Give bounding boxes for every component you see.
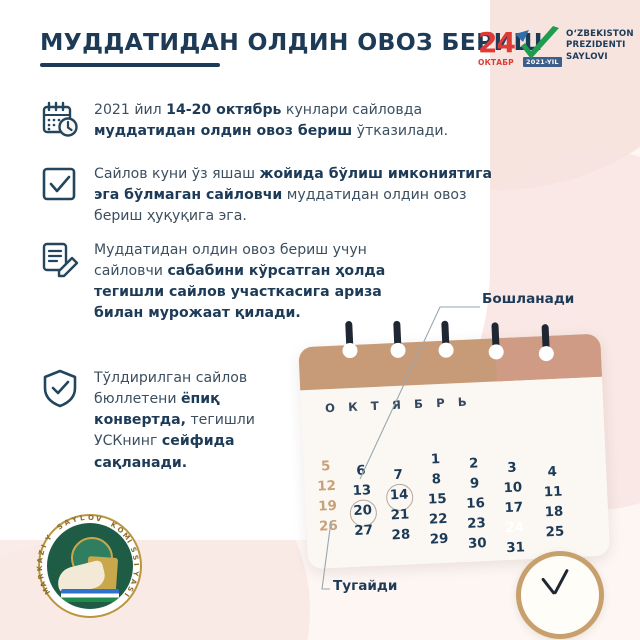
calendar-month-label: О К Т Я Б Р Ь	[325, 395, 472, 416]
calendar-ring	[342, 334, 358, 358]
bullet-text-4: Тўлдирилган сайлов бюллетени ёпиқ конвер…	[94, 368, 309, 474]
calendar-day-16: 16	[463, 496, 488, 512]
logo-month-label: ОКТАБР	[478, 58, 514, 67]
calendar-day-1: 1	[423, 452, 448, 468]
page-title: МУДДАТИДАН ОЛДИН ОВОЗ БЕРИШ	[40, 28, 543, 56]
cec-text-char: K	[36, 565, 45, 571]
cec-text-char: Y	[131, 571, 139, 577]
calendar-ring-hole	[538, 346, 554, 362]
calendar-day-4: 4	[540, 464, 565, 480]
calendar-day-29: 29	[427, 532, 452, 548]
shield-check-icon	[40, 368, 80, 408]
cec-text-char: I	[132, 563, 140, 566]
calendar-body: О К Т Я Б Р Ь 12345678910111213141516171…	[298, 334, 610, 569]
cec-text-char: S	[126, 585, 135, 593]
calendar-ring-hole	[342, 343, 358, 359]
calendar-day-26: 26	[316, 519, 341, 535]
logo-text-line3: SAYLOVI	[566, 52, 634, 63]
cec-text-char: S	[131, 554, 140, 561]
cec-text-char: Y	[44, 534, 53, 543]
bullet-item-1: 2021 йил 14-20 октябрь кунлари сайловда …	[40, 100, 514, 142]
calendar-day-2: 2	[461, 456, 486, 472]
calendar-day-10: 10	[501, 480, 526, 496]
cec-text-char: I	[40, 544, 48, 549]
calendar-day-11: 11	[541, 484, 566, 500]
bullet-item-4: Тўлдирилган сайлов бюллетени ёпиқ конвер…	[40, 368, 309, 474]
cec-text-char: A	[129, 578, 138, 585]
cec-text-char: A	[63, 518, 72, 528]
calendar-day-13: 13	[350, 483, 375, 499]
calendar-ring	[488, 335, 504, 359]
calendar-day-22: 22	[426, 512, 451, 528]
calendar-day-20: 20	[350, 503, 375, 519]
calendar-day-14: 14	[387, 487, 412, 503]
calendar-ring	[438, 333, 454, 357]
cec-text-char: R	[36, 573, 45, 580]
title-underline	[40, 63, 220, 67]
calendar-ring	[390, 334, 406, 358]
calendar-day-18: 18	[542, 504, 567, 520]
calendar-widget: О К Т Я Б Р Ь 12345678910111213141516171…	[298, 318, 629, 577]
calendar-day-15: 15	[425, 492, 450, 508]
checkmark-icon	[513, 26, 565, 66]
infographic-poster: МУДДАТИДАН ОЛДИН ОВОЗ БЕРИШ 24 ОКТАБР 20…	[0, 0, 640, 640]
calendar-day-5: 5	[313, 459, 338, 475]
calendar-day-23: 23	[464, 516, 489, 532]
calendar-ring-hole	[438, 342, 454, 358]
page-header: МУДДАТИДАН ОЛДИН ОВОЗ БЕРИШ	[40, 28, 543, 67]
cec-text-char: V	[95, 515, 102, 524]
clock-minute-hand	[553, 569, 569, 595]
cec-text-char: Y	[71, 515, 78, 524]
checkbox-check-icon	[40, 164, 80, 204]
callout-end-label: Тугайди	[333, 578, 397, 594]
calendar-day-28: 28	[389, 527, 414, 543]
cec-text-char: O	[88, 514, 94, 522]
election-logo: 24 ОКТАБР 2021-YIL O‘ZBEKISTON PREZIDENT…	[478, 27, 628, 73]
cec-text-char: S	[129, 546, 138, 554]
calendar-ring-hole	[390, 343, 406, 359]
calendar-day-8: 8	[424, 472, 449, 488]
calendar-day-30: 30	[465, 536, 490, 552]
calendar-clock-icon	[40, 100, 80, 140]
logo-text-block: O‘ZBEKISTON PREZIDENTI SAYLOVI	[566, 29, 634, 63]
cec-text-char: L	[79, 514, 85, 523]
calendar-day-9: 9	[462, 476, 487, 492]
cec-emblem-logo: MARKAZIY SAYLOV KOMISSIYASI	[38, 514, 142, 618]
callout-start-label: Бошланади	[482, 291, 574, 307]
document-pencil-icon	[40, 240, 80, 280]
calendar-ring-hole	[488, 344, 504, 360]
calendar-day-3: 3	[500, 460, 525, 476]
calendar-day-7: 7	[386, 467, 411, 483]
wall-clock-icon	[516, 551, 604, 639]
calendar-day-17: 17	[501, 500, 526, 516]
calendar-ring	[538, 337, 554, 361]
cec-text-char: Z	[37, 549, 46, 556]
calendar-day-21: 21	[388, 507, 413, 523]
calendar-day-12: 12	[314, 479, 339, 495]
bullet-text-1: 2021 йил 14-20 октябрь кунлари сайловда …	[94, 100, 514, 142]
calendar-day-6: 6	[349, 463, 374, 479]
cec-text-char: S	[56, 522, 65, 531]
bullet-item-3: Муддатидан олдин овоз бериш учун сайловч…	[40, 240, 394, 325]
logo-text-line2: PREZIDENTI	[566, 40, 634, 51]
calendar-day-19: 19	[315, 499, 340, 515]
calendar-day-25: 25	[543, 524, 568, 540]
bullet-text-2: Сайлов куни ўз яшаш жойида бўлиш имкония…	[94, 164, 514, 227]
logo-text-line1: O‘ZBEKISTON	[566, 29, 634, 40]
cec-emblem-text: MARKAZIY SAYLOV KOMISSIYASI	[38, 514, 142, 618]
calendar-day-31: 31	[503, 540, 528, 556]
logo-date-number: 24	[478, 29, 515, 57]
calendar-day-24: 24	[502, 520, 527, 536]
bullet-text-3: Муддатидан олдин овоз бериш учун сайловч…	[94, 240, 394, 325]
calendar-day-27: 27	[351, 523, 376, 539]
bullet-item-2: Сайлов куни ўз яшаш жойида бўлиш имкония…	[40, 164, 514, 227]
cec-text-char: I	[123, 591, 131, 598]
cec-text-char: A	[36, 557, 44, 563]
